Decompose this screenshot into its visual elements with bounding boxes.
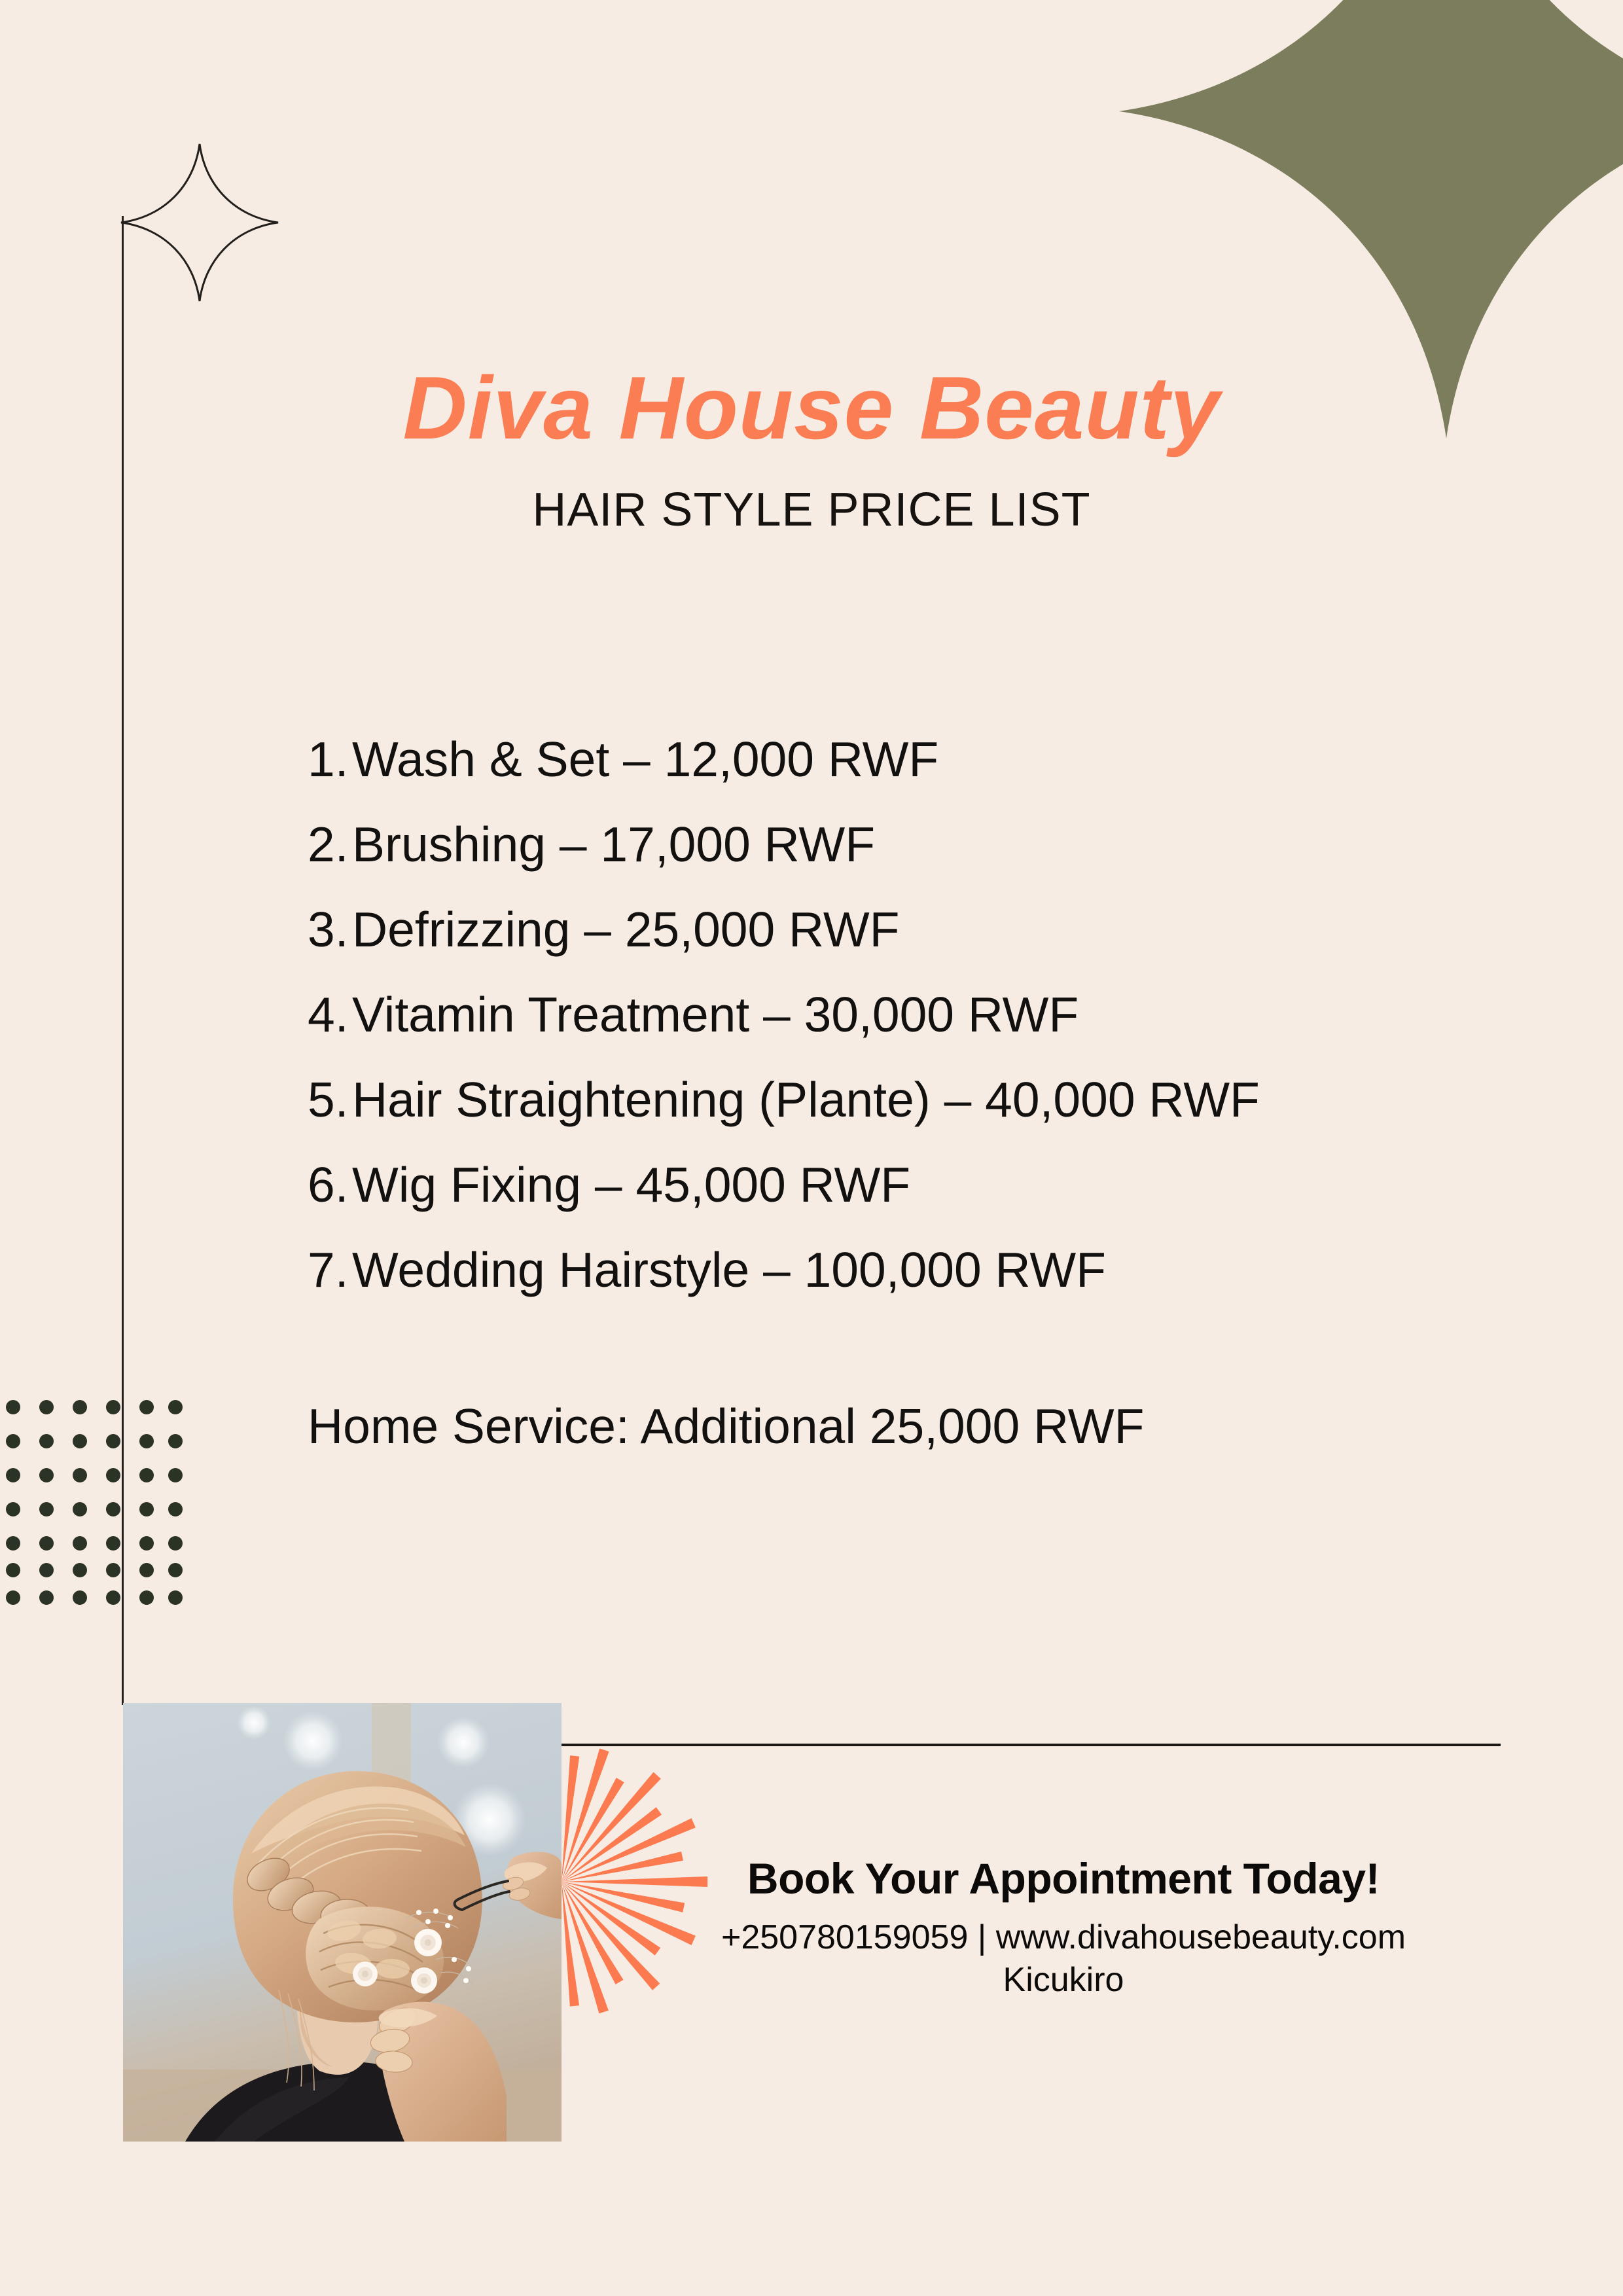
price-list: 1. Wash & Set – 12,000 RWF 2. Brushing –… [308,717,1538,1312]
price-item-number: 7. [308,1227,352,1312]
price-item-number: 3. [308,887,352,972]
price-item-text: Vitamin Treatment – 30,000 RWF [352,972,1079,1057]
price-item-text: Wig Fixing – 45,000 RWF [352,1142,910,1227]
footer-block: Book Your Appointment Today! +2507801590… [589,1856,1538,2001]
price-list-item: 6. Wig Fixing – 45,000 RWF [308,1142,1538,1227]
price-list-item: 2. Brushing – 17,000 RWF [308,802,1538,887]
price-item-number: 2. [308,802,352,887]
price-item-text: Brushing – 17,000 RWF [352,802,875,887]
price-list-item: 7. Wedding Hairstyle – 100,000 RWF [308,1227,1538,1312]
price-item-number: 1. [308,717,352,802]
price-list-item: 4. Vitamin Treatment – 30,000 RWF [308,972,1538,1057]
brand-title: Diva House Beauty [0,363,1623,452]
price-item-text: Hair Straightening (Plante) – 40,000 RWF [352,1057,1260,1142]
price-item-text: Wedding Hairstyle – 100,000 RWF [352,1227,1106,1312]
price-item-number: 5. [308,1057,352,1142]
home-service-note: Home Service: Additional 25,000 RWF [308,1402,1144,1451]
locality-line: Kicukiro [589,1959,1538,2001]
price-list-item: 5. Hair Straightening (Plante) – 40,000 … [308,1057,1538,1142]
horizontal-divider [558,1744,1501,1746]
cta-heading: Book Your Appointment Today! [589,1856,1538,1902]
sparkle-outline-icon [118,141,281,304]
price-list-item: 1. Wash & Set – 12,000 RWF [308,717,1538,802]
price-item-number: 4. [308,972,352,1057]
price-item-text: Wash & Set – 12,000 RWF [352,717,938,802]
price-list-item: 3. Defrizzing – 25,000 RWF [308,887,1538,972]
dot-grid-pattern [4,1398,187,1607]
page-subtitle: HAIR STYLE PRICE LIST [0,486,1623,533]
contact-line[interactable]: +250780159059 | www.divahousebeauty.com [589,1916,1538,1958]
price-item-number: 6. [308,1142,352,1227]
price-item-text: Defrizzing – 25,000 RWF [352,887,899,972]
hairstyle-photo [123,1703,562,2142]
